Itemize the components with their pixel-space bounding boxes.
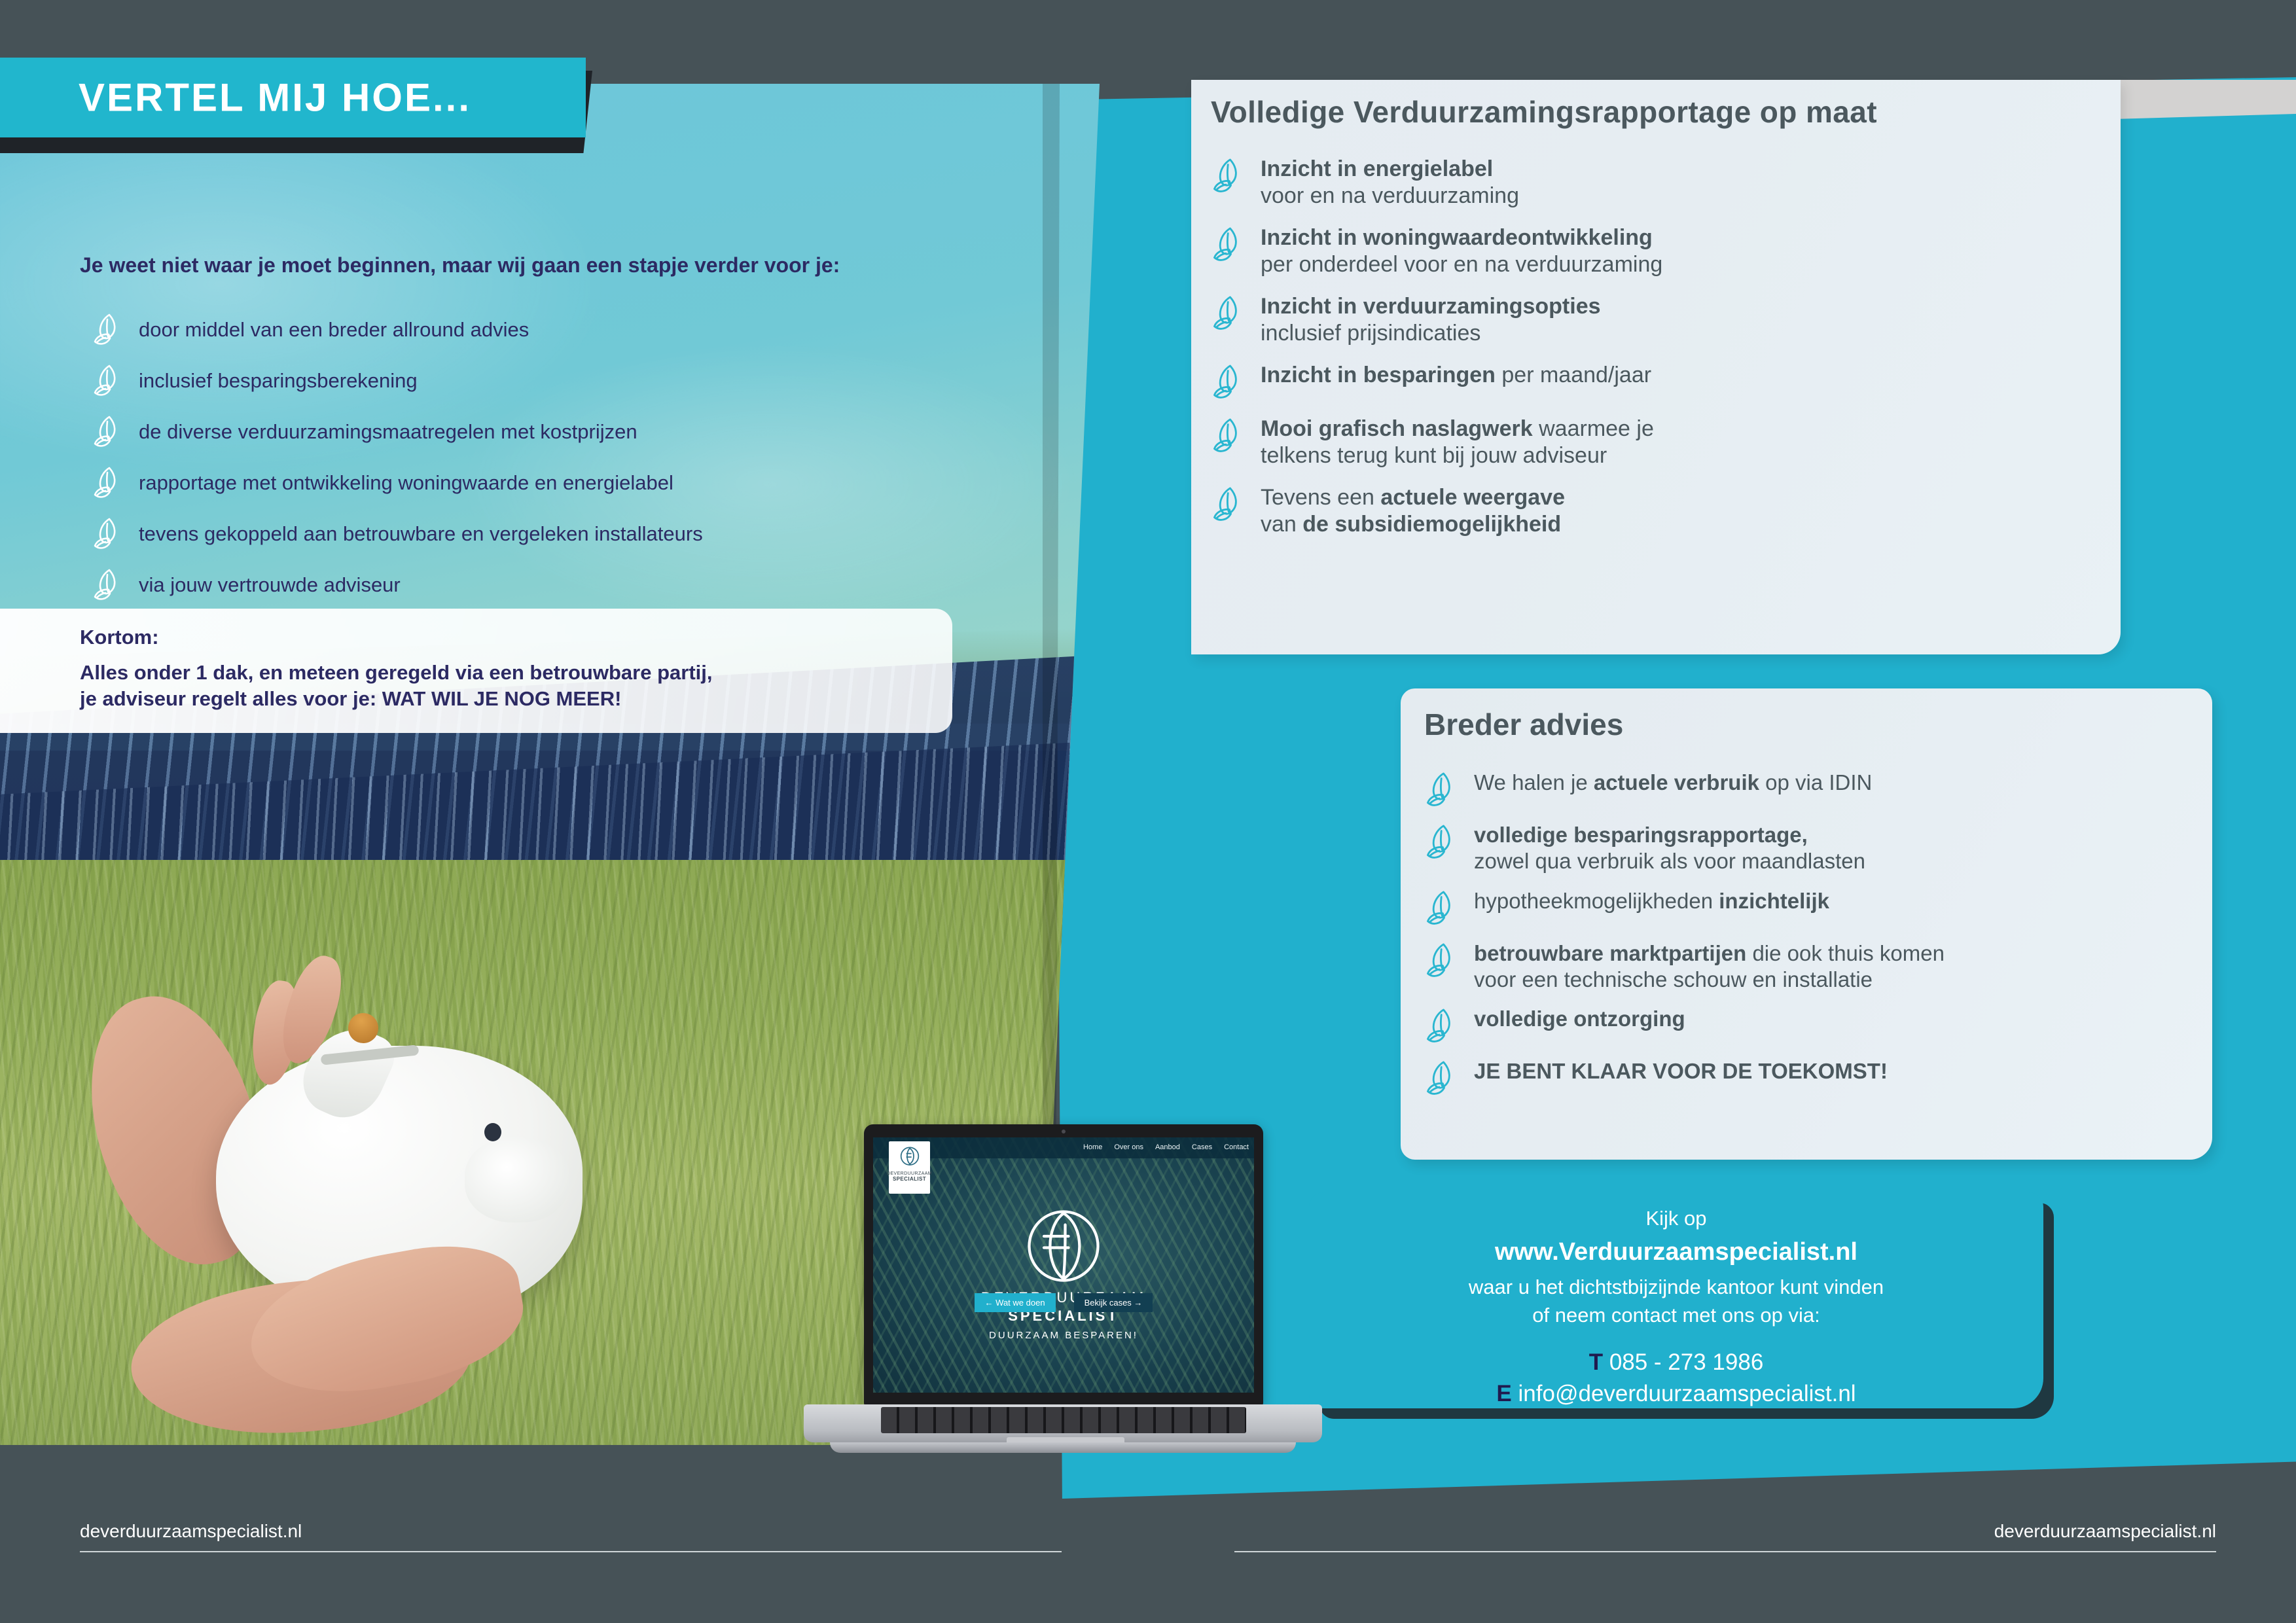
footer-left-url[interactable]: deverduurzaamspecialist.nl bbox=[80, 1521, 1062, 1551]
nav-item-contact[interactable]: Contact bbox=[1224, 1143, 1249, 1151]
leaf-icon bbox=[92, 568, 120, 602]
list-item-text: hypotheekmogelijkheden inzichtelijk bbox=[1474, 888, 1829, 914]
laptop-screen: Home Over ons Aanbod Cases Contact bbox=[873, 1137, 1254, 1393]
list-item-sub: inclusief prijsindicaties bbox=[1261, 320, 1601, 347]
left-bullet-list: door middel van een breder allround advi… bbox=[92, 313, 1041, 619]
kortom-body: Alles onder 1 dak, en meteen geregeld vi… bbox=[80, 660, 905, 713]
list-item-text: Inzicht in besparingen per maand/jaar bbox=[1261, 362, 1651, 389]
list-item-bold: Inzicht in woningwaardeontwikkeling bbox=[1261, 225, 1653, 250]
list-item-label: de diverse verduurzamingsmaatregelen met… bbox=[139, 419, 637, 444]
leaf-icon bbox=[1424, 889, 1456, 927]
contact-phone-row[interactable]: T 085 - 273 1986 bbox=[1309, 1349, 2043, 1376]
kortom-label: Kortom: bbox=[80, 626, 159, 649]
leaf-icon bbox=[92, 517, 120, 551]
leaf-icon bbox=[1211, 226, 1242, 264]
footer-right-rule bbox=[1234, 1551, 2216, 1552]
kortom-line-1: Alles onder 1 dak, en meteen geregeld vi… bbox=[80, 661, 712, 684]
kortom-line-2: je adviseur regelt alles voor je: WAT WI… bbox=[80, 687, 621, 710]
list-item-pre: hypotheekmogelijkheden bbox=[1474, 889, 1719, 913]
list-item: hypotheekmogelijkheden inzichtelijk bbox=[1424, 888, 2197, 927]
contact-email-row[interactable]: E info@deverduurzaamspecialist.nl bbox=[1309, 1381, 2043, 1407]
leaf-icon bbox=[1211, 486, 1242, 524]
list-item-text: betrouwbare marktpartijen die ook thuis … bbox=[1474, 940, 1945, 993]
contact-website[interactable]: www.Verduurzaamspecialist.nl bbox=[1309, 1238, 2043, 1266]
page-title: VERTEL MIJ HOE... bbox=[79, 75, 471, 120]
list-item-sub-pre: van bbox=[1261, 512, 1302, 537]
list-item: JE BENT KLAAR VOOR DE TOEKOMST! bbox=[1424, 1058, 2197, 1097]
leaf-icon bbox=[1424, 1007, 1456, 1045]
laptop-keyboard bbox=[881, 1407, 1246, 1433]
advice-panel-title: Breder advies bbox=[1424, 707, 1623, 742]
list-item-bold: volledige ontzorging bbox=[1474, 1007, 1685, 1031]
list-item: Inzicht in woningwaardeontwikkeling per … bbox=[1211, 224, 2101, 279]
list-item-bold: Mooi grafisch naslagwerk bbox=[1261, 416, 1533, 441]
list-item: volledige ontzorging bbox=[1424, 1006, 2197, 1045]
title-tab: VERTEL MIJ HOE... bbox=[0, 58, 586, 137]
contact-line-1: Kijk op bbox=[1309, 1207, 2043, 1230]
list-item-bold: actuele verbruik bbox=[1594, 770, 1759, 794]
bekijk-cases-button[interactable]: Bekijk cases → bbox=[1074, 1293, 1153, 1312]
laptop-mockup: Home Over ons Aanbod Cases Contact bbox=[804, 1124, 1322, 1465]
website-logo[interactable]: DEVERDUURZAAM SPECIALIST bbox=[889, 1141, 930, 1194]
list-item-pre: Tevens een bbox=[1261, 485, 1380, 510]
list-item-text: volledige besparingsrapportage, zowel qu… bbox=[1474, 822, 1865, 875]
leaf-icon bbox=[92, 313, 120, 347]
hero-euro-leaf-icon bbox=[1014, 1200, 1113, 1298]
list-item-text: Tevens een actuele weergave van de subsi… bbox=[1261, 484, 1565, 539]
piggy-bank-in-hands bbox=[92, 915, 681, 1445]
list-item-sub: van de subsidiemogelijkheid bbox=[1261, 511, 1565, 538]
website-hero: DEVERDUURZAAM SPECIALIST DUURZAAM BESPAR… bbox=[873, 1200, 1254, 1341]
nav-item-cases[interactable]: Cases bbox=[1192, 1143, 1212, 1151]
website-logo-name-1: DEVERDUURZAAM bbox=[887, 1171, 932, 1176]
list-item: inclusief besparingsberekening bbox=[92, 364, 1041, 398]
contact-line-4: of neem contact met ons op via: bbox=[1532, 1304, 1820, 1327]
website-navbar: Home Over ons Aanbod Cases Contact bbox=[873, 1137, 1254, 1158]
leaf-icon bbox=[1211, 417, 1242, 455]
intro-text: Je weet niet waar je moet beginnen, maar… bbox=[80, 252, 1049, 278]
leaf-icon bbox=[92, 364, 120, 398]
list-item: We halen je actuele verbruik op via IDIN bbox=[1424, 770, 2197, 809]
list-item-sub: voor een technische schouw en installati… bbox=[1474, 967, 1945, 993]
list-item: Inzicht in energielabel voor en na verdu… bbox=[1211, 156, 2101, 210]
list-item: Tevens een actuele weergave van de subsi… bbox=[1211, 484, 2101, 539]
list-item-sub: zowel qua verbruik als voor maandlasten bbox=[1474, 848, 1865, 874]
leaf-icon bbox=[92, 415, 120, 449]
leaf-icon bbox=[1424, 823, 1456, 861]
wat-we-doen-button[interactable]: ← Wat we doen bbox=[975, 1293, 1056, 1312]
webcam-icon bbox=[1062, 1130, 1066, 1133]
list-item-rest: waarmee je bbox=[1533, 416, 1654, 441]
list-item: volledige besparingsrapportage, zowel qu… bbox=[1424, 822, 2197, 875]
leaf-icon bbox=[1424, 771, 1456, 809]
website-nav-items: Home Over ons Aanbod Cases Contact bbox=[1083, 1143, 1249, 1151]
contact-phone[interactable]: 085 - 273 1986 bbox=[1609, 1349, 1763, 1375]
list-item-label: door middel van een breder allround advi… bbox=[139, 317, 529, 342]
list-item-sub-bold: de subsidiemogelijkheid bbox=[1302, 512, 1561, 537]
list-item-bold: volledige besparingsrapportage, bbox=[1474, 823, 1808, 847]
poster-page: VERTEL MIJ HOE... Je weet niet waar je m… bbox=[0, 0, 2296, 1623]
piggy-bank-eye bbox=[484, 1123, 501, 1141]
advice-panel: Breder advies We halen je actuele verbru… bbox=[1401, 688, 2212, 1160]
list-item-bold: Inzicht in energielabel bbox=[1261, 156, 1493, 181]
contact-line-3: waar u het dichtstbijzijnde kantoor kunt… bbox=[1309, 1274, 2043, 1330]
nav-item-aanbod[interactable]: Aanbod bbox=[1155, 1143, 1180, 1151]
list-item-rest: die ook thuis komen bbox=[1746, 941, 1945, 965]
list-item-text: volledige ontzorging bbox=[1474, 1006, 1685, 1032]
nav-item-over-ons[interactable]: Over ons bbox=[1114, 1143, 1143, 1151]
list-item-bold: Inzicht in verduurzamingsopties bbox=[1261, 294, 1601, 319]
list-item-sub: voor en na verduurzaming bbox=[1261, 183, 1519, 209]
phone-label: T bbox=[1589, 1349, 1603, 1375]
list-item-bold: betrouwbare marktpartijen bbox=[1474, 941, 1746, 965]
list-item-rest: per maand/jaar bbox=[1496, 363, 1651, 387]
list-item-label: tevens gekoppeld aan betrouwbare en verg… bbox=[139, 522, 703, 546]
advice-panel-list: We halen je actuele verbruik op via IDIN… bbox=[1424, 770, 2197, 1111]
laptop-lid: Home Over ons Aanbod Cases Contact bbox=[864, 1124, 1263, 1406]
email-label: E bbox=[1496, 1381, 1511, 1406]
list-item: door middel van een breder allround advi… bbox=[92, 313, 1041, 347]
report-panel: Volledige Verduurzamingsrapportage op ma… bbox=[1191, 80, 2121, 654]
list-item-bold: actuele weergave bbox=[1380, 485, 1565, 510]
list-item: tevens gekoppeld aan betrouwbare en verg… bbox=[92, 517, 1041, 551]
list-item-label: inclusief besparingsberekening bbox=[139, 368, 418, 393]
leaf-icon bbox=[1211, 363, 1242, 401]
list-item-sub: telkens terug kunt bij jouw adviseur bbox=[1261, 442, 1654, 469]
leaf-icon bbox=[1424, 1060, 1456, 1097]
list-item-pre: We halen je bbox=[1474, 770, 1594, 794]
contact-email[interactable]: info@deverduurzaamspecialist.nl bbox=[1518, 1381, 1856, 1406]
list-item: betrouwbare marktpartijen die ook thuis … bbox=[1424, 940, 2197, 993]
piggy-bank-snout bbox=[465, 1137, 569, 1222]
leaf-icon bbox=[92, 466, 120, 500]
list-item: via jouw vertrouwde adviseur bbox=[92, 568, 1041, 602]
kortom-callout: Kortom: Alles onder 1 dak, en meteen ger… bbox=[0, 609, 952, 733]
list-item-text: Inzicht in verduurzamingsopties inclusie… bbox=[1261, 293, 1601, 348]
nav-item-home[interactable]: Home bbox=[1083, 1143, 1102, 1151]
list-item: rapportage met ontwikkeling woningwaarde… bbox=[92, 466, 1041, 500]
list-item-bold: inzichtelijk bbox=[1719, 889, 1829, 913]
hero-tagline: DUURZAAM BESPAREN! bbox=[873, 1330, 1254, 1341]
list-item-label: rapportage met ontwikkeling woningwaarde… bbox=[139, 471, 673, 495]
footer-right-url[interactable]: deverduurzaamspecialist.nl bbox=[1234, 1521, 2216, 1551]
leaf-icon bbox=[1211, 294, 1242, 332]
laptop-front-edge bbox=[830, 1442, 1296, 1453]
list-item-bold: Inzicht in besparingen bbox=[1261, 363, 1496, 387]
euro-leaf-logo-icon bbox=[897, 1144, 923, 1170]
list-item-rest: op via IDIN bbox=[1759, 770, 1872, 794]
list-item-text: We halen je actuele verbruik op via IDIN bbox=[1474, 770, 1872, 796]
list-item-text: JE BENT KLAAR VOOR DE TOEKOMST! bbox=[1474, 1058, 1888, 1084]
footer-left: deverduurzaamspecialist.nl bbox=[80, 1521, 1062, 1552]
report-panel-title: Volledige Verduurzamingsrapportage op ma… bbox=[1211, 94, 1877, 130]
list-item-label: via jouw vertrouwde adviseur bbox=[139, 573, 401, 597]
list-item-sub: per onderdeel voor en na verduurzaming bbox=[1261, 251, 1662, 278]
list-item: de diverse verduurzamingsmaatregelen met… bbox=[92, 415, 1041, 449]
leaf-icon bbox=[1424, 942, 1456, 980]
list-item-text: Mooi grafisch naslagwerk waarmee je telk… bbox=[1261, 416, 1654, 470]
list-item-text: Inzicht in energielabel voor en na verdu… bbox=[1261, 156, 1519, 210]
list-item-bold: JE BENT KLAAR VOOR DE TOEKOMST! bbox=[1474, 1059, 1888, 1083]
list-item: Inzicht in verduurzamingsopties inclusie… bbox=[1211, 293, 2101, 348]
list-item: Mooi grafisch naslagwerk waarmee je telk… bbox=[1211, 416, 2101, 470]
footer-left-rule bbox=[80, 1551, 1062, 1552]
footer-right: deverduurzaamspecialist.nl bbox=[1234, 1521, 2216, 1552]
report-panel-list: Inzicht in energielabel voor en na verdu… bbox=[1211, 156, 2101, 553]
hero-buttons: ← Wat we doen Bekijk cases → bbox=[873, 1293, 1254, 1312]
website-logo-name-2: SPECIALIST bbox=[893, 1176, 926, 1182]
contact-line-3a: waar u het dichtstbijzijnde kantoor kunt… bbox=[1469, 1275, 1884, 1298]
list-item-text: Inzicht in woningwaardeontwikkeling per … bbox=[1261, 224, 1662, 279]
contact-card: Kijk op www.Verduurzaamspecialist.nl waa… bbox=[1309, 1192, 2043, 1408]
leaf-icon bbox=[1211, 157, 1242, 195]
list-item: Inzicht in besparingen per maand/jaar bbox=[1211, 362, 2101, 401]
